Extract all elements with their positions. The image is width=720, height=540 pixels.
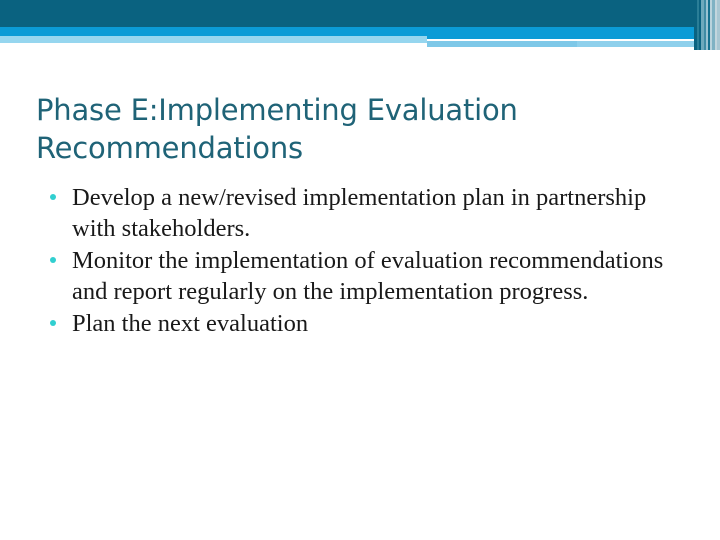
list-item: Monitor the implementation of evaluation… (44, 245, 684, 307)
header-edge-stripes (694, 0, 720, 50)
slide-title: Phase E:Implementing Evaluation Recommen… (36, 91, 656, 167)
list-item: Plan the next evaluation (44, 308, 684, 339)
list-item: Develop a new/revised implementation pla… (44, 182, 684, 244)
header-band-bright-blue-step (427, 27, 720, 39)
list-item-text: Develop a new/revised implementation pla… (72, 182, 684, 244)
header-band-white-left-sliver (0, 43, 427, 50)
header-band-pale-blue-step-short (427, 41, 577, 47)
presentation-slide: Phase E:Implementing Evaluation Recommen… (0, 0, 720, 540)
list-item-text: Monitor the implementation of evaluation… (72, 245, 684, 307)
slide-header-banner (0, 0, 720, 50)
header-band-dark-teal (0, 0, 720, 27)
bullet-dot-icon (50, 320, 56, 326)
list-item-text: Plan the next evaluation (72, 308, 684, 339)
slide-bullet-list: Develop a new/revised implementation pla… (44, 182, 684, 340)
bullet-dot-icon (50, 257, 56, 263)
bullet-dot-icon (50, 194, 56, 200)
